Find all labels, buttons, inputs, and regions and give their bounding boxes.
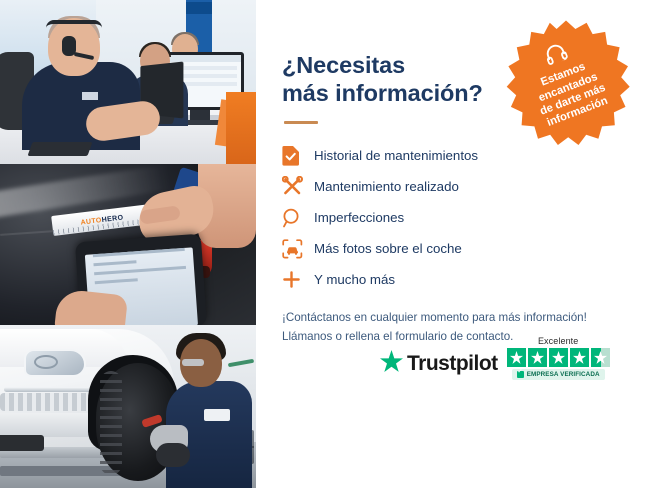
info-banner: AUTOHERO xyxy=(0,0,650,488)
trustpilot-score-block: Excelente xyxy=(507,336,610,380)
photo-column: AUTOHERO xyxy=(0,0,256,488)
mechanic-glove-dark xyxy=(156,443,190,467)
orange-fixture xyxy=(226,92,256,164)
plus-icon xyxy=(282,270,312,289)
list-item-label: Y mucho más xyxy=(312,272,395,287)
star-filled xyxy=(528,348,547,367)
star-filled xyxy=(507,348,526,367)
headlight-projector xyxy=(34,355,58,369)
tablet-row xyxy=(93,260,136,266)
wall-poster-header xyxy=(186,2,212,14)
headline-line-1: ¿Necesitas xyxy=(282,52,405,78)
star-partial xyxy=(591,348,610,367)
trustpilot-rating[interactable]: Trustpilot Excelente xyxy=(380,336,610,380)
star-filled xyxy=(549,348,568,367)
headset-band xyxy=(46,20,102,28)
crossed-tools-icon xyxy=(282,176,312,197)
list-item-label: Mantenimiento realizado xyxy=(312,179,459,194)
verified-label: EMPRESA VERIFICADA xyxy=(527,371,600,378)
content-panel: ¿Necesitas más información? Historial de… xyxy=(256,0,650,488)
list-item: Más fotos sobre el coche xyxy=(282,233,650,264)
list-item: Mantenimiento realizado xyxy=(282,171,650,202)
call-center-agents-photo xyxy=(0,0,256,164)
headline-line-2: más información? xyxy=(282,80,483,106)
star-filled xyxy=(570,348,589,367)
document-check-icon xyxy=(282,145,312,166)
mechanic-safety-glasses xyxy=(182,359,204,366)
star-rating xyxy=(507,348,610,367)
list-item: Imperfecciones xyxy=(282,202,650,233)
car-focus-icon xyxy=(282,239,312,259)
mechanic-wheel-photo xyxy=(0,325,256,488)
feature-list: Historial de mantenimientos Mantenimient… xyxy=(282,140,650,295)
tablet-row xyxy=(94,266,186,275)
list-item-label: Imperfecciones xyxy=(312,210,404,225)
promo-starburst-badge: Estamos encantados de darte más informac… xyxy=(502,18,630,146)
monitor-toolbar xyxy=(159,55,241,62)
magnifier-icon xyxy=(282,208,312,228)
list-item-label: Más fotos sobre el coche xyxy=(312,241,462,256)
agent-1-name-badge xyxy=(82,92,98,100)
mechanic-uniform-logo xyxy=(204,409,230,421)
rating-label: Excelente xyxy=(538,336,578,346)
tablet-row xyxy=(95,278,138,284)
title-underline-accent xyxy=(284,121,318,124)
blurb-line-1: ¡Contáctanos en cualquier momento para m… xyxy=(282,309,650,328)
tablet-row xyxy=(93,248,185,257)
tyre-tread xyxy=(100,371,122,475)
trustpilot-wordmark: Trustpilot xyxy=(407,352,498,376)
list-item: Y mucho más xyxy=(282,264,650,295)
desk-tablet xyxy=(27,142,92,156)
list-item-label: Historial de mantenimientos xyxy=(312,148,478,163)
trustpilot-logo[interactable]: Trustpilot xyxy=(380,350,498,380)
bumper-air-intake xyxy=(0,435,44,451)
car-inspection-ruler-photo: AUTOHERO xyxy=(0,164,256,325)
status-badge: EMPRESA VERIFICADA xyxy=(512,369,605,380)
verified-check-icon xyxy=(517,371,524,378)
trustpilot-star-icon xyxy=(380,350,403,377)
